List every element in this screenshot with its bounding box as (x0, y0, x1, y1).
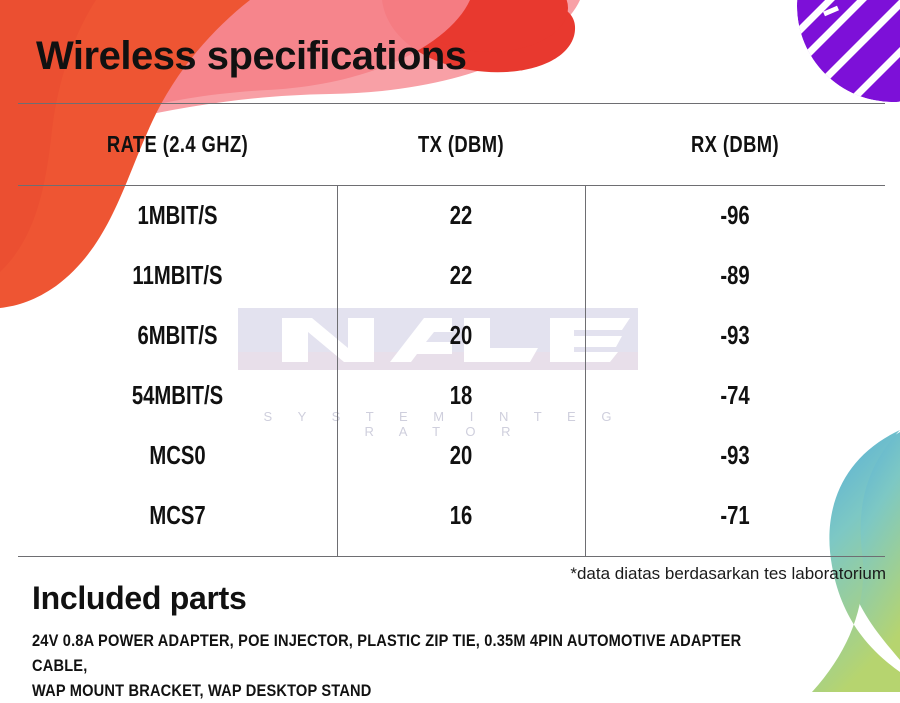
cell-tx: 20 (364, 425, 557, 485)
table-bottom-rule (18, 556, 885, 557)
cell-rx: -74 (618, 365, 852, 425)
cell-tx: 22 (364, 245, 557, 305)
cell-rate: MCS0 (53, 425, 302, 485)
wireless-spec-table: RATE (2.4 GHZ) TX (DBM) RX (DBM) 1MBIT/S… (18, 104, 885, 545)
page-title: Wireless specifications (36, 34, 467, 79)
cell-rx: -89 (618, 245, 852, 305)
table-row: 54MBIT/S 18 -74 (18, 365, 885, 425)
cell-rx: -71 (618, 485, 852, 545)
table-row: 1MBIT/S 22 -96 (18, 185, 885, 245)
cell-tx: 22 (364, 185, 557, 245)
included-parts-heading: Included parts (32, 580, 247, 617)
column-header-tx: TX (DBM) (362, 104, 560, 185)
table-row: MCS7 16 -71 (18, 485, 885, 545)
cell-rx: -93 (618, 425, 852, 485)
cell-rate: MCS7 (53, 485, 302, 545)
cell-rate: 11MBIT/S (53, 245, 302, 305)
table-row: 6MBIT/S 20 -93 (18, 305, 885, 365)
table-header-row: RATE (2.4 GHZ) TX (DBM) RX (DBM) (18, 104, 885, 185)
table-footnote: *data diatas berdasarkan tes laboratoriu… (570, 564, 886, 584)
cell-rate: 6MBIT/S (53, 305, 302, 365)
spec-sheet: Wireless specifications RATE (2.4 GHZ) T… (0, 0, 900, 692)
cell-tx: 16 (364, 485, 557, 545)
column-header-rx: RX (DBM) (615, 104, 855, 185)
column-header-rate: RATE (2.4 GHZ) (50, 104, 305, 185)
cell-rate: 1MBIT/S (53, 185, 302, 245)
table-row: MCS0 20 -93 (18, 425, 885, 485)
cell-rate: 54MBIT/S (53, 365, 302, 425)
cell-rx: -96 (618, 185, 852, 245)
cell-tx: 20 (364, 305, 557, 365)
table-row: 11MBIT/S 22 -89 (18, 245, 885, 305)
cell-rx: -93 (618, 305, 852, 365)
cell-tx: 18 (364, 365, 557, 425)
